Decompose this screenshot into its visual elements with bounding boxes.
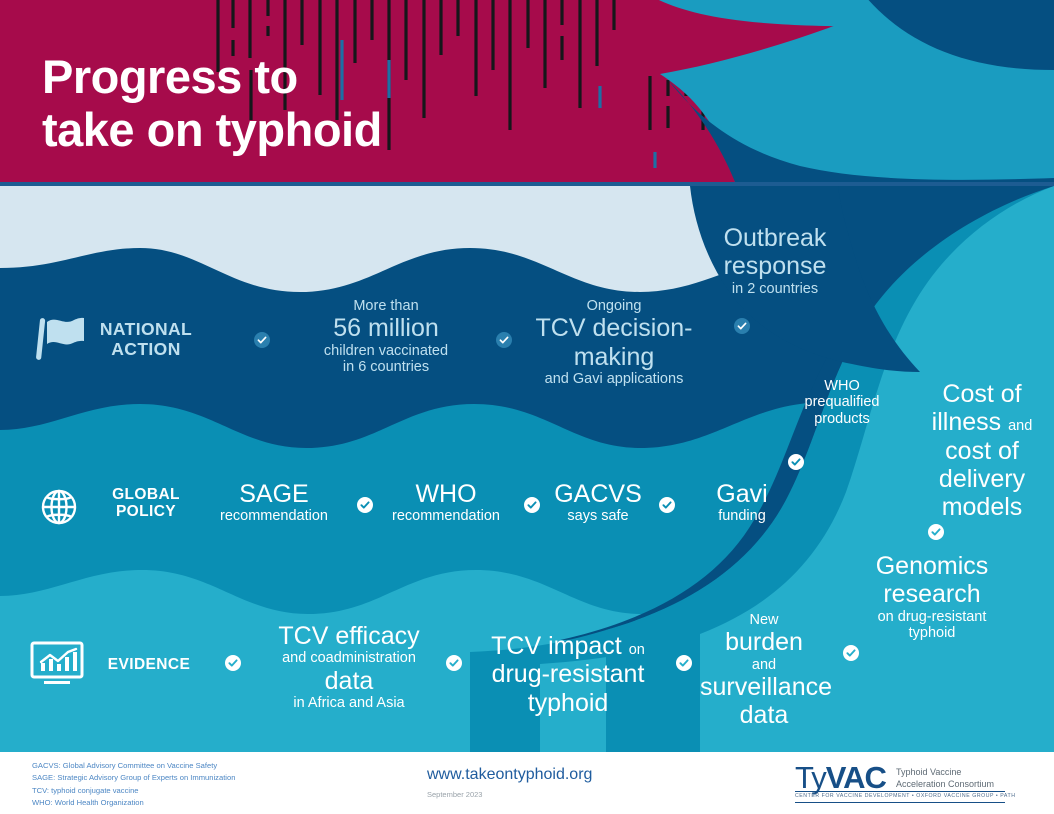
logo-ty: Ty <box>795 760 826 795</box>
item-tcv-efficacy: TCV efficacy and coadministration data i… <box>258 622 440 711</box>
item-label: typhoid <box>852 625 1012 641</box>
check-icon <box>734 318 750 334</box>
logo-vac: VAC <box>826 760 886 795</box>
legend-line: WHO: World Health Organization <box>32 797 235 809</box>
item-label: cost of <box>912 437 1052 465</box>
publication-date: September 2023 <box>427 790 482 799</box>
abbreviation-legend: GACVS: Global Advisory Committee on Vacc… <box>32 760 235 809</box>
legend-line: TCV: typhoid conjugate vaccine <box>32 785 235 797</box>
check-icon <box>446 655 462 671</box>
item-label: Cost of <box>912 380 1052 408</box>
item-label: Genomics <box>852 552 1012 580</box>
chart-monitor-icon <box>28 640 86 693</box>
flag-icon <box>32 312 90 369</box>
item-label: says safe <box>546 508 650 524</box>
item-label: WHO <box>780 378 904 394</box>
sidebar-item-evidence: EVIDENCE <box>86 656 212 673</box>
item-label: illness and <box>912 408 1052 436</box>
check-icon <box>928 524 944 540</box>
item-label: TCV efficacy <box>258 622 440 650</box>
item-label: funding <box>690 508 794 524</box>
item-cost-of-illness: Cost of illness and cost of delivery mod… <box>912 380 1052 521</box>
item-label: burden <box>700 628 828 656</box>
item-new-burden-surveillance: New burden and surveillance data <box>700 612 828 730</box>
item-who-recommendation: WHO recommendation <box>380 480 512 525</box>
item-label: in 2 countries <box>700 281 850 297</box>
website-link[interactable]: www.takeontyphoid.org <box>427 766 592 784</box>
check-icon <box>788 454 804 470</box>
item-label: More than <box>300 298 472 314</box>
item-56-million: More than 56 million children vaccinated… <box>300 298 472 375</box>
item-label: in Africa and Asia <box>258 695 440 711</box>
logo-tagline: CENTER FOR VACCINE DEVELOPMENT • OXFORD … <box>795 793 1005 799</box>
item-label: data <box>700 701 828 729</box>
item-label: TCV impact on <box>476 632 660 660</box>
check-icon <box>357 497 373 513</box>
item-who-prequalified: WHO prequalified products <box>780 378 904 427</box>
item-label: response <box>700 252 850 280</box>
tyvac-logo: TyVAC Typhoid Vaccine Acceleration Conso… <box>795 758 1005 808</box>
item-label: delivery <box>912 465 1052 493</box>
item-label: Outbreak <box>700 224 850 252</box>
item-tcv-impact: TCV impact on drug-resistant typhoid <box>476 632 660 717</box>
item-label: recommendation <box>208 508 340 524</box>
check-icon <box>659 497 675 513</box>
item-label: New <box>700 612 828 628</box>
item-label: in 6 countries <box>300 359 472 375</box>
item-label: prequalified <box>780 394 904 410</box>
item-label: and Gavi applications <box>524 371 704 387</box>
item-label: recommendation <box>380 508 512 524</box>
item-label: children vaccinated <box>300 343 472 359</box>
item-label: SAGE <box>208 480 340 508</box>
item-label: TCV decision- <box>524 314 704 342</box>
item-label: Ongoing <box>524 298 704 314</box>
item-gavi-funding: Gavi funding <box>690 480 794 525</box>
check-icon <box>676 655 692 671</box>
item-label: and <box>700 657 828 673</box>
item-label: drug-resistant <box>476 660 660 688</box>
check-icon <box>843 645 859 661</box>
item-label: on drug-resistant <box>852 609 1012 625</box>
page-title: Progress to take on typhoid <box>42 50 382 156</box>
logo-divider-bottom <box>795 802 1005 803</box>
item-label: research <box>852 580 1012 608</box>
check-icon <box>524 497 540 513</box>
sidebar-item-global-policy: GLOBAL POLICY <box>92 486 200 521</box>
check-icon <box>496 332 512 348</box>
item-label: models <box>912 493 1052 521</box>
item-label: typhoid <box>476 689 660 717</box>
logo-subtitle: Typhoid Vaccine Acceleration Consortium <box>896 766 994 790</box>
check-icon <box>225 655 241 671</box>
item-genomics-research: Genomics research on drug-resistant typh… <box>852 552 1012 641</box>
item-label: Gavi <box>690 480 794 508</box>
item-outbreak-response: Outbreak response in 2 countries <box>700 224 850 297</box>
item-label: surveillance <box>700 673 828 701</box>
sidebar-item-national-action: NATIONAL ACTION <box>86 320 206 359</box>
item-label: WHO <box>380 480 512 508</box>
infographic-poster: Progress to take on typhoid NATIONAL ACT… <box>0 0 1054 814</box>
item-label: data <box>258 667 440 695</box>
item-label: making <box>524 343 704 371</box>
footer: GACVS: Global Advisory Committee on Vacc… <box>0 752 1054 814</box>
check-icon <box>254 332 270 348</box>
logo-divider <box>795 791 1005 792</box>
item-gacvs-says-safe: GACVS says safe <box>546 480 650 525</box>
item-label: GACVS <box>546 480 650 508</box>
legend-line: SAGE: Strategic Advisory Group of Expert… <box>32 772 235 784</box>
item-tcv-decision-making: Ongoing TCV decision- making and Gavi ap… <box>524 298 704 387</box>
item-label: 56 million <box>300 314 472 342</box>
legend-line: GACVS: Global Advisory Committee on Vacc… <box>32 760 235 772</box>
item-sage-recommendation: SAGE recommendation <box>208 480 340 525</box>
globe-icon <box>36 484 82 535</box>
item-label: products <box>780 411 904 427</box>
item-label: and coadministration <box>258 650 440 666</box>
